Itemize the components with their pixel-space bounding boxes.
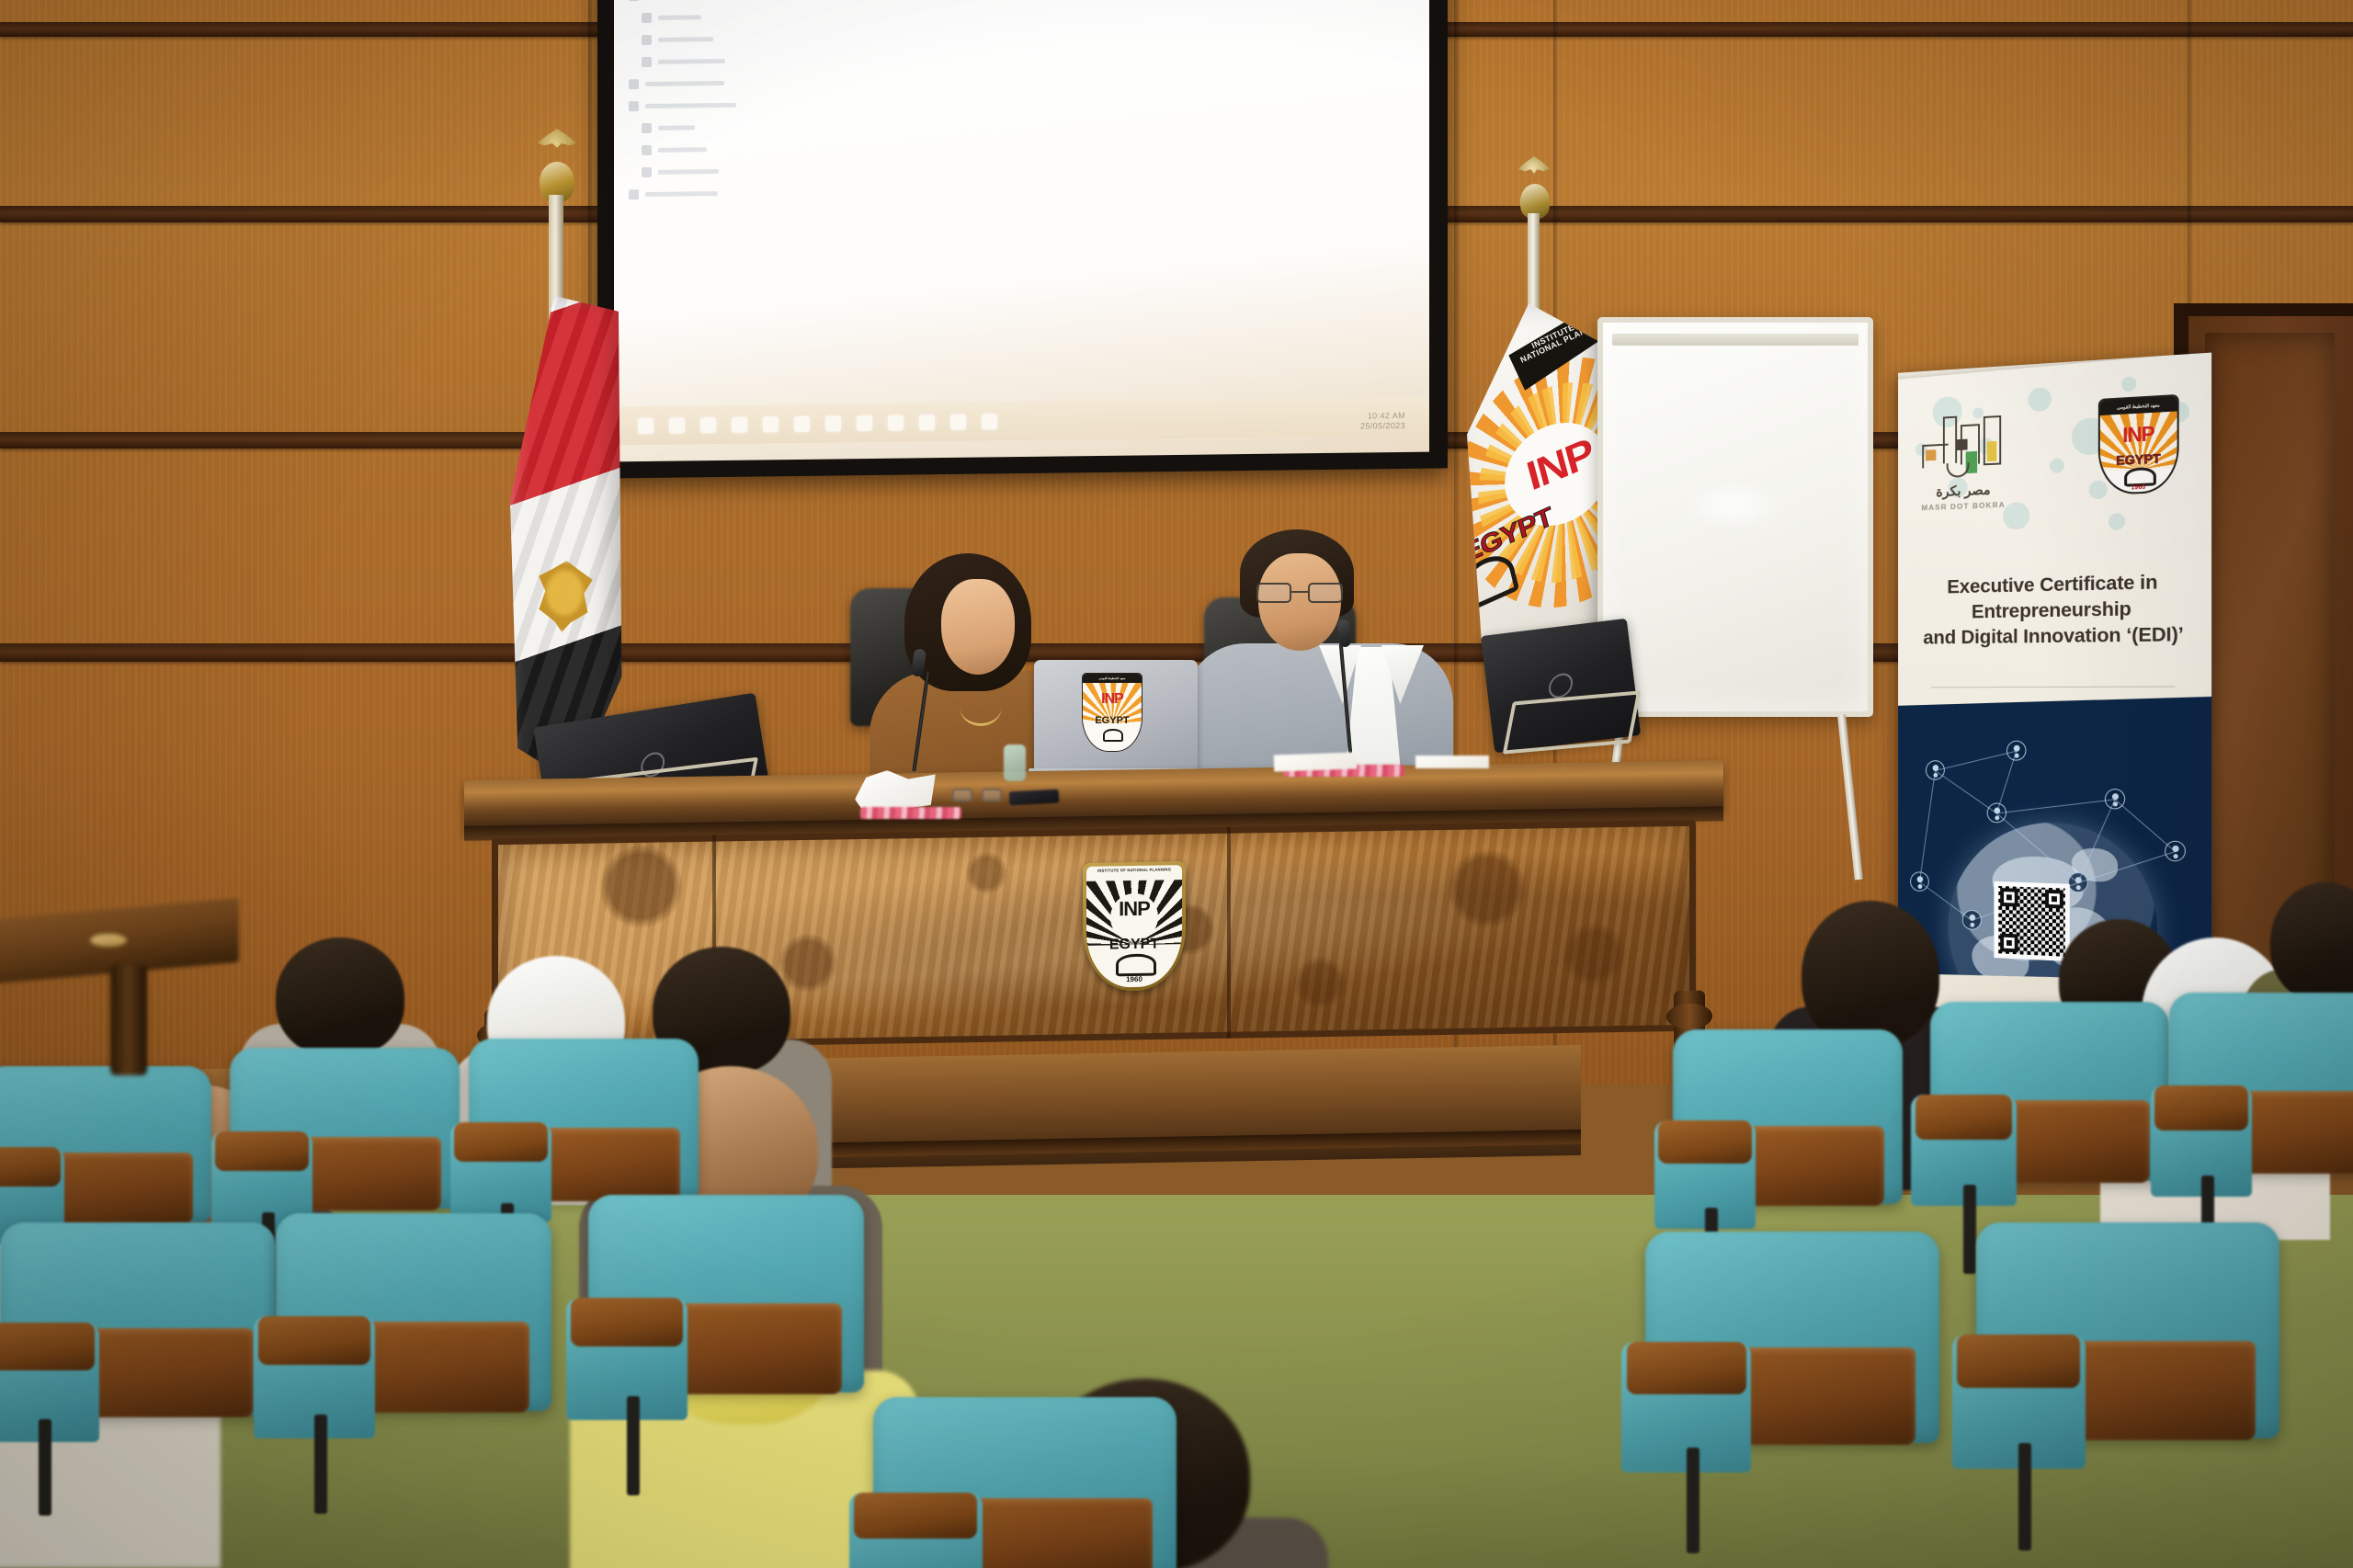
seat-3[interactable] (469, 1039, 699, 1199)
microphone-head-right (1337, 619, 1352, 647)
projection-screen: 10:42 AM 25/05/2023 (597, 0, 1448, 479)
projected-row-icon (629, 0, 639, 1)
projected-row-icon (642, 166, 652, 176)
taskbar-icon[interactable] (794, 415, 810, 431)
desk-seam-right (1227, 827, 1231, 1039)
seat-12[interactable] (1976, 1222, 2279, 1438)
seal-year: 1960 (2100, 483, 2177, 493)
banner-title: Executive Certificate in Entrepreneurshi… (1915, 569, 2192, 651)
crest-gear-icon (1116, 954, 1156, 977)
egyptian-flag-cloth (500, 295, 628, 784)
coaster-on-table (90, 934, 127, 947)
seat-leg (1963, 1185, 1976, 1275)
armrest-wood-top (854, 1493, 977, 1539)
seat-5[interactable] (276, 1213, 551, 1411)
taskbar-icon[interactable] (732, 416, 747, 432)
dell-logo-icon-right (1547, 672, 1574, 699)
seat-armrest (849, 1493, 983, 1568)
flag-folds (500, 295, 628, 784)
woman-necklace (960, 687, 1002, 726)
banner-divider (1931, 687, 2176, 688)
egyptian-flag (484, 129, 631, 790)
projected-row-label (658, 169, 719, 175)
eagle-finial-icon (538, 129, 576, 165)
masr-dot-bokra-logo-icon (1920, 410, 2008, 486)
projected-row-label (645, 80, 724, 85)
attendee-head (1802, 901, 1939, 1048)
network-link (1935, 751, 2016, 771)
armrest-wood-top (2154, 1085, 2247, 1130)
woman-face (941, 579, 1015, 675)
banner-bubble (2050, 458, 2064, 473)
attendee-13 (2270, 882, 2353, 1002)
desk-inp-crest: INSTITUTE OF NATIONAL PLANNING INP EGYPT… (1083, 861, 1186, 992)
whiteboard-surface (1597, 317, 1873, 717)
network-link (1919, 770, 1936, 881)
projected-row-icon (642, 56, 652, 66)
network-link (2115, 799, 2176, 851)
inp-finial-icon (1518, 156, 1550, 187)
projected-taskbar (614, 397, 1429, 446)
seat-leg (1687, 1448, 1699, 1553)
armrest-wood-top (0, 1147, 61, 1186)
masr-logo-english: MASR DOT BOKRA (1910, 500, 2018, 512)
taskbar-icon[interactable] (888, 415, 904, 430)
taskbar-icon[interactable] (857, 415, 872, 430)
armrest-wood-top (1957, 1335, 2080, 1388)
seat-leg (314, 1415, 327, 1514)
eyeglasses-on-desk (952, 789, 1002, 803)
projected-sidebar-row (642, 159, 794, 183)
crest-country: EGYPT (1086, 937, 1182, 953)
network-link (1996, 751, 2017, 813)
armrest-wood-top (215, 1131, 308, 1171)
whiteboard-glare (1677, 478, 1788, 533)
armrest-wood-top (0, 1323, 95, 1370)
projected-sidebar-row (642, 49, 794, 73)
water-bottle (1004, 744, 1026, 781)
laptop-sticker-wordmark: INP (1083, 692, 1142, 707)
projected-row-label (658, 58, 725, 63)
projected-row-icon (629, 101, 639, 111)
armrest-wood-top (1627, 1342, 1746, 1394)
conference-hall-photo: 10:42 AM 25/05/2023 INP EGYPT INSTITUTE … (0, 0, 2353, 1568)
attendee-head (2270, 882, 2353, 1002)
crest-inner: INSTITUTE OF NATIONAL PLANNING INP EGYPT… (1086, 865, 1182, 988)
projected-sidebar-row (629, 93, 794, 117)
armrest-wood-top (1915, 1095, 2012, 1139)
laptop-lid: معهد التخطيط القومي INP EGYPT (1034, 660, 1198, 772)
armrest-wood-top (571, 1298, 682, 1346)
seat-9[interactable] (1930, 1002, 2169, 1181)
projected-row-icon (642, 122, 652, 132)
taskbar-icon[interactable] (763, 416, 779, 432)
projected-row-icon (642, 34, 652, 44)
network-link (1935, 770, 1996, 813)
laptop-sticker-country: EGYPT (1083, 716, 1142, 726)
seat-7[interactable] (873, 1397, 1176, 1568)
smartphone-on-desk[interactable] (1009, 790, 1060, 806)
masr-logo-arabic: مصر بكرة (1915, 483, 2012, 500)
seat-4[interactable] (0, 1222, 276, 1415)
projected-row-icon (642, 12, 652, 22)
seat-8[interactable] (1673, 1029, 1903, 1204)
papers-right (1274, 752, 1358, 771)
projected-row-label (645, 191, 718, 197)
banner-title-line1: Executive Certificate in (1915, 569, 2192, 601)
papers-center (1415, 756, 1489, 768)
attendee-10 (1802, 901, 1939, 1048)
flipchart-whiteboard (1597, 317, 1873, 717)
armrest-wood-top (1658, 1120, 1751, 1164)
banner-bubble (2028, 387, 2052, 412)
projection-surface: 10:42 AM 25/05/2023 (614, 0, 1429, 461)
banner-inp-seal: معهد التخطيط القومي INP EGYPT 1960 (2098, 394, 2179, 495)
projected-clock: 10:42 AM 25/05/2023 (1360, 411, 1405, 430)
taskbar-icon[interactable] (669, 417, 685, 433)
taskbar-icon[interactable] (638, 417, 654, 433)
network-nodes-layer (1898, 697, 2211, 706)
laptop-sticker-gear-icon (1103, 729, 1123, 742)
attendee-2 (276, 937, 404, 1057)
seat-leg (39, 1419, 51, 1516)
laptop-inp-sticker: معهد التخطيط القومي INP EGYPT (1082, 673, 1142, 752)
attendee-head (276, 937, 404, 1057)
crest-wordmark: INP (1086, 898, 1182, 920)
projected-row-label (658, 15, 701, 20)
man-eyeglasses-icon (1256, 583, 1343, 603)
taskbar-icon[interactable] (700, 417, 716, 433)
taskbar-icon[interactable] (825, 415, 841, 431)
seat-leg (2018, 1443, 2031, 1551)
projected-sidebar-row (629, 71, 794, 95)
taskbar-icon[interactable] (982, 414, 997, 429)
crest-header: INSTITUTE OF NATIONAL PLANNING (1086, 867, 1182, 877)
projected-row-label (658, 125, 695, 130)
projected-sidebar-row (642, 137, 794, 161)
taskbar-icon[interactable] (919, 415, 935, 430)
seal-wordmark: INP (2100, 423, 2177, 448)
projected-row-icon (642, 144, 652, 154)
banner-bubble (2121, 376, 2136, 392)
projected-row-icon (629, 79, 639, 89)
taskbar-icon[interactable] (950, 414, 966, 429)
network-link (1996, 799, 2115, 813)
banner-title-line3: and Digital Innovation ‘(EDI)’ (1915, 622, 2192, 652)
projected-row-label (645, 102, 736, 108)
seat-1[interactable] (0, 1066, 211, 1222)
projected-sidebar-row (642, 27, 794, 51)
armrest-wood-top (454, 1122, 547, 1162)
projected-sidebar-row (642, 115, 794, 139)
seat-leg (627, 1396, 640, 1495)
seat-10[interactable] (2169, 993, 2353, 1172)
seat-2[interactable] (230, 1048, 460, 1209)
projected-row-label (658, 147, 707, 153)
side-table-leg (110, 965, 147, 1075)
projected-sidebar-row (629, 181, 794, 205)
projected-sidebar-row (642, 5, 794, 28)
seat-6[interactable] (588, 1195, 864, 1392)
seat-11[interactable] (1645, 1232, 1939, 1443)
armrest-wood-top (258, 1316, 369, 1365)
projected-row-label (658, 37, 713, 42)
whiteboard-clamp (1612, 334, 1859, 346)
projected-sidebar (629, 0, 794, 205)
pink-papers-left (860, 807, 961, 819)
banner-bubble (2109, 513, 2125, 530)
